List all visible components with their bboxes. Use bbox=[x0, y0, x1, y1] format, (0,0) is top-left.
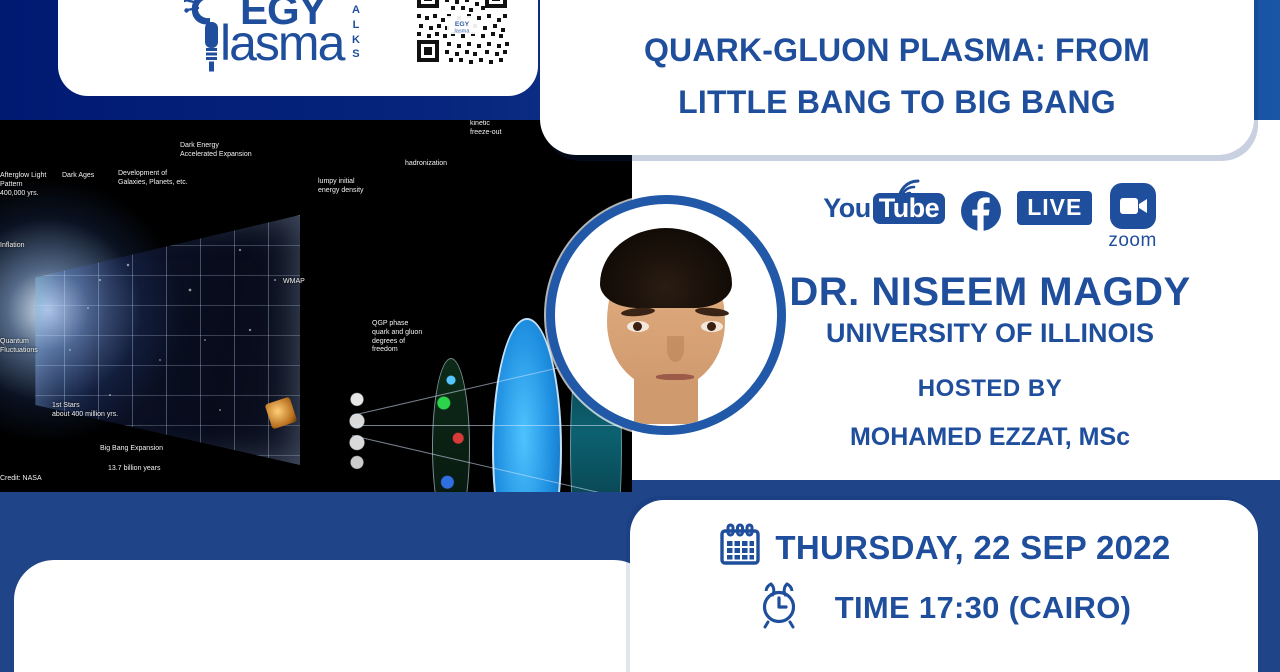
egy-plasma-logo[interactable]: EGY lasma TALKS bbox=[184, 0, 414, 70]
brand-header-card: EGY lasma TALKS bbox=[58, 0, 538, 96]
illustration-label-6: WMAP bbox=[283, 278, 305, 287]
facebook-icon[interactable] bbox=[961, 191, 1001, 231]
speaker-affiliation: UNIVERSITY OF ILLINOIS bbox=[700, 318, 1280, 349]
live-badge: LIVE bbox=[1017, 191, 1092, 225]
pupil-left bbox=[633, 322, 642, 331]
streaming-platform-row: YouTube LIVE bbox=[700, 185, 1280, 265]
svg-text:EGY: EGY bbox=[455, 21, 470, 28]
schedule-card: THURSDAY, 22 SEP 2022 TIME 17:30 (CAIRO) bbox=[630, 500, 1258, 672]
mouth bbox=[656, 374, 694, 380]
illustration-label-1: Inflation bbox=[0, 242, 25, 251]
illustration-label-7: 1st Stars about 400 million yrs. bbox=[52, 402, 118, 420]
illustration-label-4: Development of Galaxies, Planets, etc. bbox=[118, 170, 188, 188]
illustration-label-9: 13.7 billion years bbox=[108, 465, 161, 474]
youtube-you-text: You bbox=[823, 193, 871, 223]
hosted-by-label: HOSTED BY bbox=[700, 375, 1280, 403]
date-row: THURSDAY, 22 SEP 2022 bbox=[717, 522, 1170, 573]
zoom-camera-icon bbox=[1110, 183, 1156, 229]
illustration-label-12: hadronization bbox=[405, 160, 447, 169]
illustration-label-8: Big Bang Expansion bbox=[100, 445, 163, 454]
zoom-logo[interactable]: zoom bbox=[1108, 183, 1156, 252]
wifi-signal-icon bbox=[897, 179, 923, 203]
big-bang-qgp-illustration: Afterglow Light Pattern 400,000 yrs.Infl… bbox=[0, 120, 632, 492]
host-name: MOHAMED EZZAT, MSc bbox=[700, 423, 1280, 452]
bottom-left-white-panel bbox=[14, 560, 654, 672]
speaker-panel: YouTube LIVE bbox=[700, 185, 1280, 485]
brand-talks-label: TALKS bbox=[352, 0, 361, 62]
illustration-label-13: kinetic freeze-out bbox=[470, 120, 502, 138]
youtube-logo[interactable]: YouTube bbox=[823, 193, 945, 224]
poster-root: Afterglow Light Pattern 400,000 yrs.Infl… bbox=[0, 0, 1280, 672]
svg-text:lasma: lasma bbox=[455, 29, 471, 35]
initial-energy-density-blob bbox=[340, 385, 374, 475]
event-date: THURSDAY, 22 SEP 2022 bbox=[775, 529, 1170, 567]
title-card: QUARK-GLUON PLASMA: FROM LITTLE BANG TO … bbox=[540, 0, 1254, 155]
event-time: TIME 17:30 (CAIRO) bbox=[835, 590, 1132, 626]
illustration-label-5: Dark Energy Accelerated Expansion bbox=[180, 142, 252, 160]
illustration-label-11: lumpy initial energy density bbox=[318, 178, 364, 196]
zoom-label: zoom bbox=[1108, 230, 1156, 252]
nose bbox=[667, 336, 684, 362]
brand-name-plasma: lasma bbox=[220, 14, 343, 72]
illustration-label-0: Afterglow Light Pattern 400,000 yrs. bbox=[0, 172, 46, 198]
illustration-label-3: Dark Ages bbox=[62, 172, 94, 181]
page-title-line1: QUARK-GLUON PLASMA: FROM bbox=[644, 25, 1150, 77]
illustration-label-2: Quantum Fluctuations bbox=[0, 338, 38, 356]
speaker-name: DR. NISEEM MAGDY bbox=[700, 270, 1280, 315]
illustration-label-10: Credit: NASA bbox=[0, 475, 42, 484]
qr-code[interactable]: EGY lasma bbox=[413, 0, 511, 66]
page-title-line2: LITTLE BANG TO BIG BANG bbox=[678, 77, 1116, 129]
time-row: TIME 17:30 (CAIRO) bbox=[757, 581, 1132, 634]
illustration-label-14: QGP phase quark and gluon degrees of fre… bbox=[372, 320, 422, 355]
calendar-icon bbox=[717, 522, 763, 573]
alarm-clock-icon bbox=[757, 581, 801, 634]
